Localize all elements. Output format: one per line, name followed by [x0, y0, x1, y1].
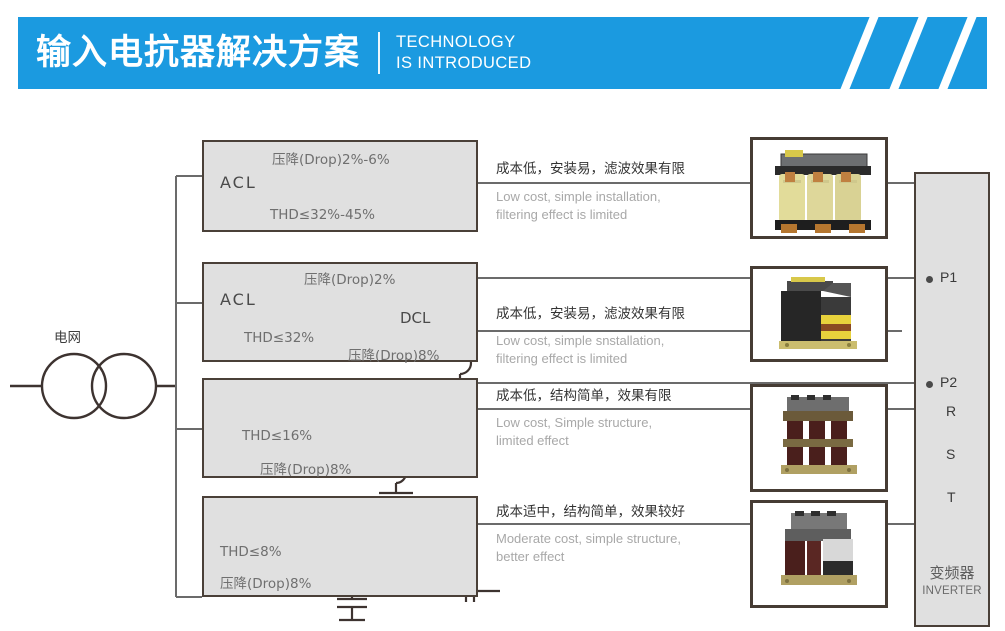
reactor-extra-label: 压降(Drop)8%: [220, 572, 311, 592]
desc-cn-row-2: 成本低，安装易，滤波效果有限: [496, 302, 685, 322]
terminal-dot-p2: [926, 381, 933, 388]
reactor-box-acl[interactable]: 压降(Drop)2%-6% ACL THD≤32%-45%: [202, 140, 478, 232]
desc-en-row-4: Moderate cost, simple structure, better …: [496, 530, 681, 567]
photo-dc-reactor[interactable]: [750, 266, 888, 362]
reactor-solution-diagram: 电网 压降(Drop)2%-6% ACL THD≤32%-45% 成本低，安装易…: [0, 96, 1005, 631]
reactor-bottom-label: THD≤16%: [242, 428, 312, 444]
banner-title-cn: 输入电抗器解决方案: [36, 36, 360, 71]
desc-en-row-1: Low cost, simple installation, filtering…: [496, 188, 661, 225]
banner-divider: [378, 32, 380, 74]
photo-lcl-filter-reactor[interactable]: [750, 500, 888, 608]
desc-en-row-3: Low cost, Simple structure, limited effe…: [496, 414, 652, 451]
reactor-top-label: 压降(Drop)2%-6%: [272, 148, 390, 168]
desc-cn-row-1: 成本低，安装易，滤波效果有限: [496, 157, 685, 177]
reactor-box-acl-dcl[interactable]: 压降(Drop)2% ACL THD≤32% DCL 压降(Drop)8%: [202, 262, 478, 362]
photo-three-phase-ac-reactor[interactable]: [750, 137, 888, 239]
reactor-box-lc-filter[interactable]: THD≤16% 压降(Drop)8%: [202, 378, 478, 478]
terminal-label-t: T: [947, 489, 956, 505]
banner-content: 输入电抗器解决方案 TECHNOLOGY IS INTRODUCED: [18, 17, 987, 89]
banner-subtitle-line1: TECHNOLOGY: [396, 32, 531, 53]
inverter-panel[interactable]: P1 P2 R S T 变频器 INVERTER: [914, 172, 990, 627]
page-header-banner: 输入电抗器解决方案 TECHNOLOGY IS INTRODUCED: [18, 17, 987, 89]
terminal-label-r: R: [946, 403, 956, 419]
reactor-left-label: ACL: [220, 290, 257, 309]
reactor-right-label: DCL: [400, 309, 430, 327]
terminal-label-p2: P2: [940, 374, 957, 390]
banner-subtitle: TECHNOLOGY IS INTRODUCED: [396, 32, 531, 75]
desc-cn-row-4: 成本适中，结构简单，效果较好: [496, 500, 685, 520]
reactor-box-lcl-filter[interactable]: THD≤8% 压降(Drop)8%: [202, 496, 478, 597]
desc-cn-row-3: 成本低，结构简单，效果有限: [496, 384, 672, 404]
reactor-extra-label: 压降(Drop)8%: [260, 458, 351, 478]
reactor-bottom-label: THD≤32%: [244, 330, 314, 346]
reactor-left-label: ACL: [220, 173, 257, 192]
photo-lc-filter-reactor[interactable]: [750, 384, 888, 492]
grid-label: 电网: [54, 330, 81, 347]
reactor-bottom-label: THD≤32%-45%: [270, 207, 375, 223]
reactor-extra-label: 压降(Drop)8%: [348, 344, 439, 364]
terminal-label-s: S: [946, 446, 955, 462]
banner-subtitle-line2: IS INTRODUCED: [396, 53, 531, 74]
inverter-name-cn: 变频器: [916, 562, 988, 583]
desc-en-row-2: Low cost, simple snstallation, filtering…: [496, 332, 664, 369]
reactor-bottom-label: THD≤8%: [220, 544, 282, 560]
terminal-dot-p1: [926, 276, 933, 283]
reactor-top-label: 压降(Drop)2%: [304, 268, 395, 288]
inverter-name-en: INVERTER: [916, 585, 988, 597]
terminal-label-p1: P1: [940, 269, 957, 285]
